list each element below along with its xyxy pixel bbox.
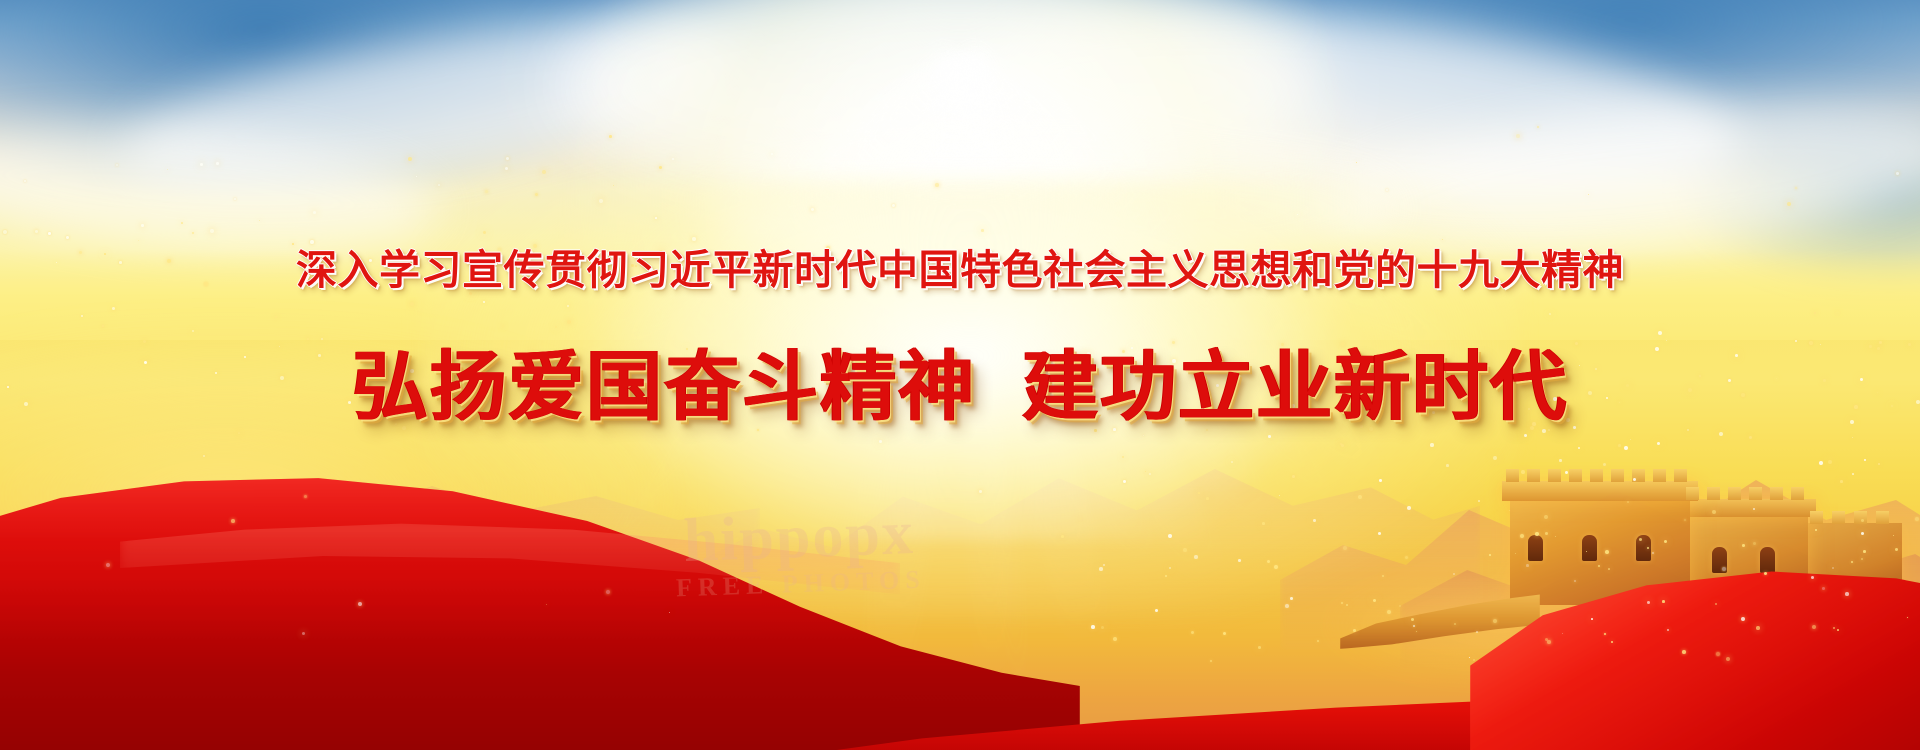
headline-line-1: 深入学习宣传贯彻习近平新时代中国特色社会主义思想和党的十九大精神 — [0, 236, 1920, 296]
propaganda-banner: hippopx FREE PHOTOS 深入学习宣传贯彻习近平新时代中国特色社会… — [0, 0, 1920, 750]
headline-line-2-part-1: 弘扬爱国奋斗精神 — [352, 342, 976, 431]
headline-line-2: 弘扬爱国奋斗精神建功立业新时代 — [0, 325, 1920, 435]
headline-line-2-part-2: 建功立业新时代 — [1022, 342, 1568, 431]
headline-block: 深入学习宣传贯彻习近平新时代中国特色社会主义思想和党的十九大精神 弘扬爱国奋斗精… — [0, 0, 1920, 750]
